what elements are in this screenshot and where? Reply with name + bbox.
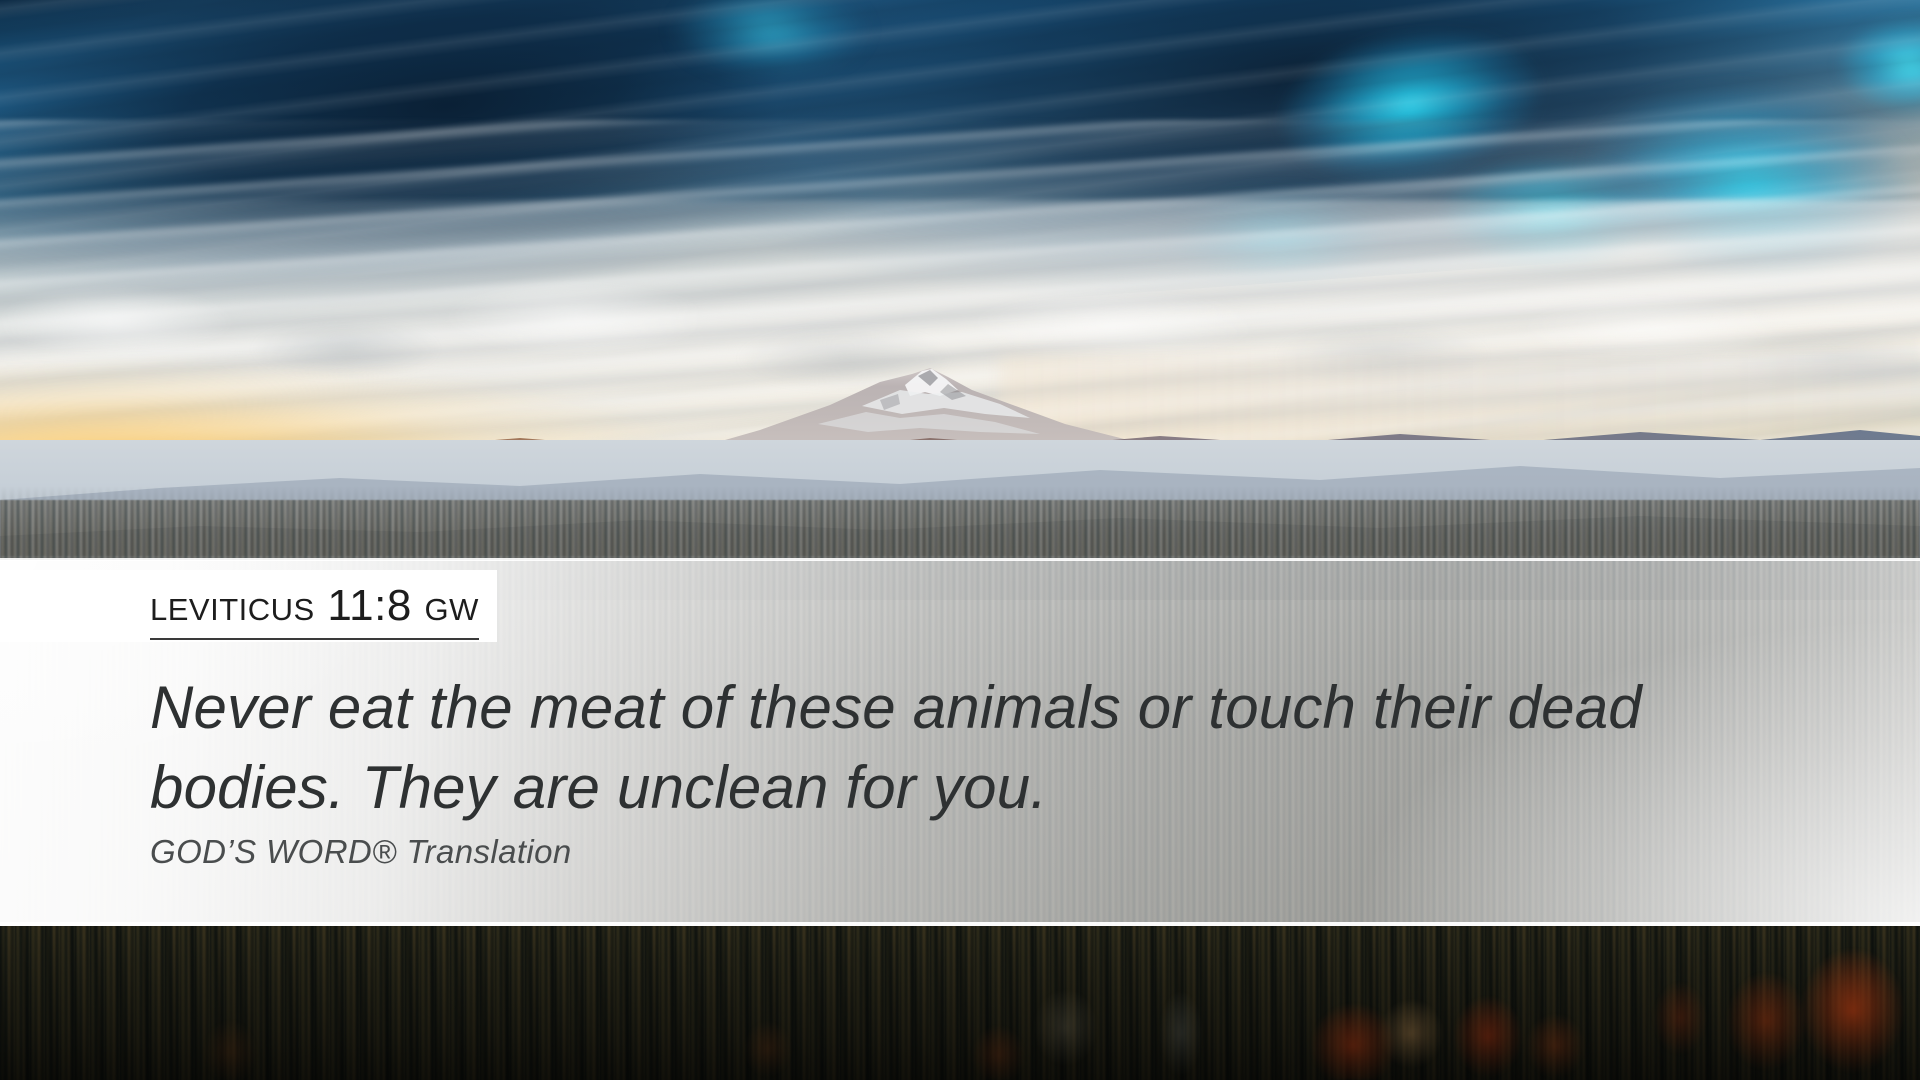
overlay-top-rule (0, 558, 1920, 561)
forest-vignette (0, 926, 1920, 1080)
translation-attribution: GOD’S WORD® Translation (150, 833, 572, 871)
mountain-region (0, 0, 1920, 470)
verse-reference-underline (150, 638, 479, 640)
verse-reference: Leviticus 11:8 GW (150, 584, 479, 628)
wallpaper-canvas: Leviticus 11:8 GW Never eat the meat of … (0, 0, 1920, 1080)
verse-text: Never eat the meat of these animals or t… (150, 668, 1830, 828)
verse-line-2: bodies. They are unclean for you. (150, 748, 1830, 828)
verse-line-1: Never eat the meat of these animals or t… (150, 668, 1830, 748)
mountain-svg (0, 0, 1920, 470)
foreground-forest (0, 926, 1920, 1080)
overlay-bottom-rule (0, 922, 1920, 926)
verse-reference-box: Leviticus 11:8 GW (0, 570, 497, 642)
